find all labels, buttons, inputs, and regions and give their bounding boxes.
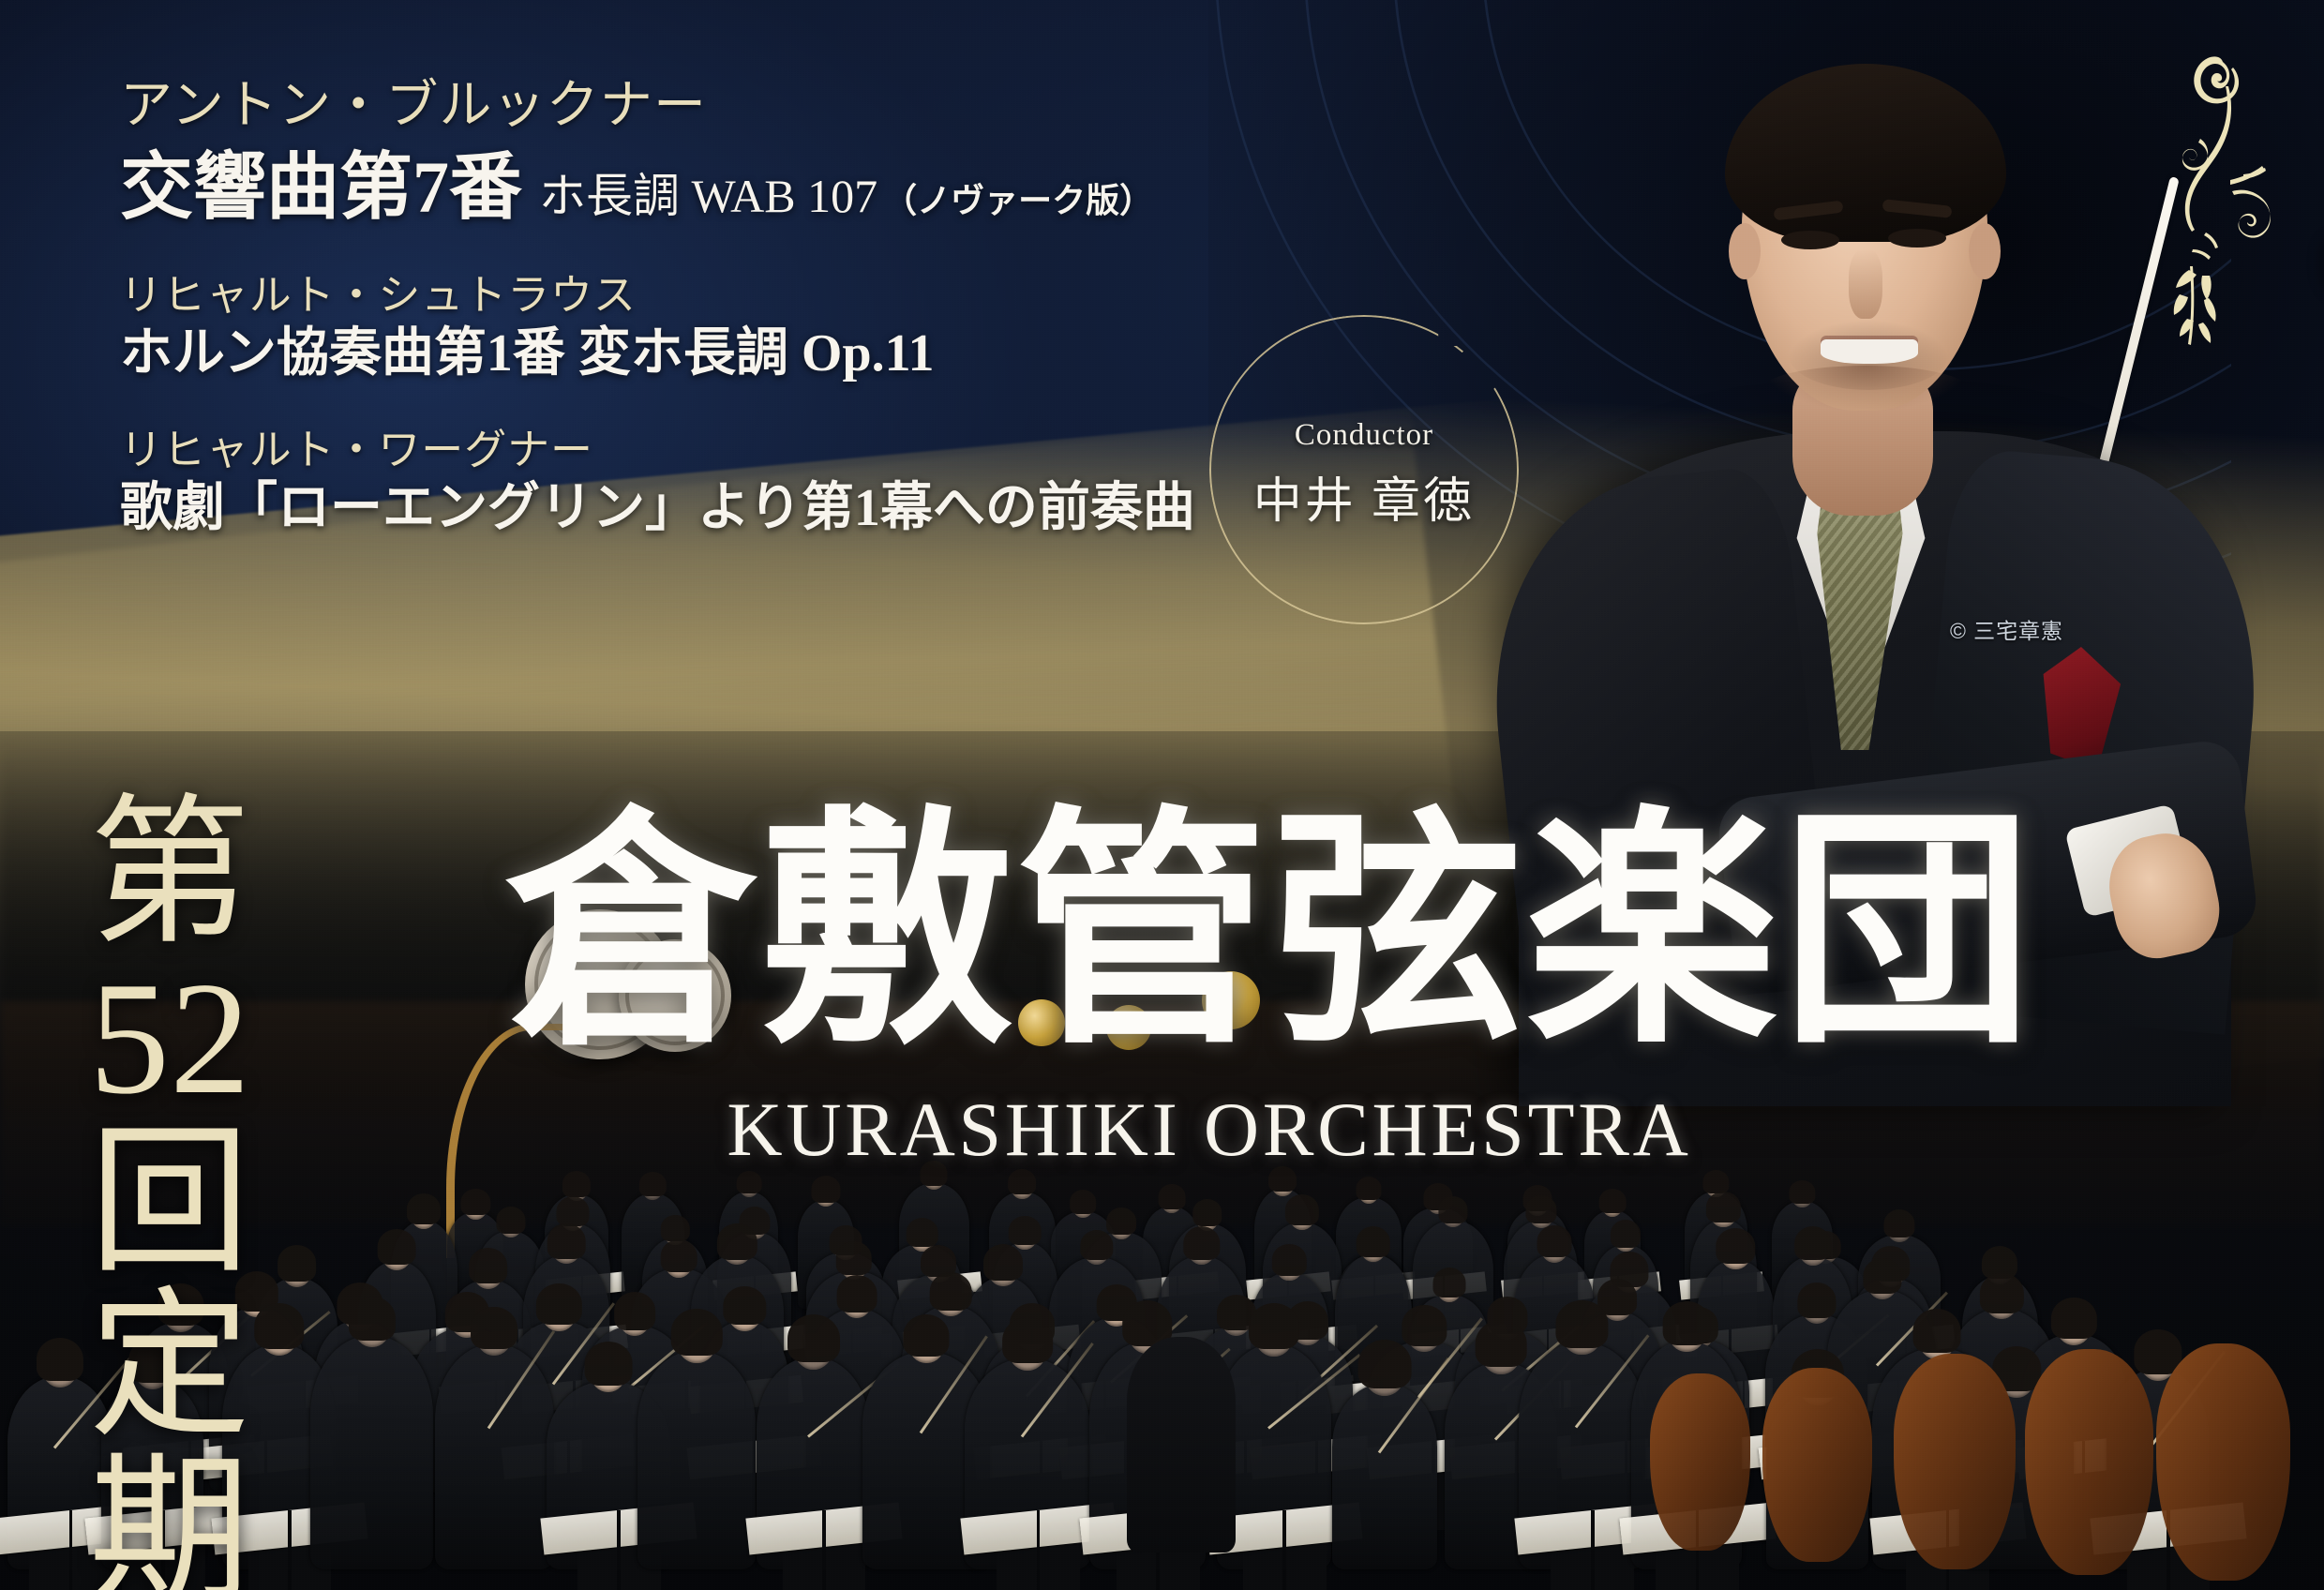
conductor-badge: Conductor 中井 章徳: [1209, 315, 1519, 624]
work-title-edition: （ノヴァーク版）: [883, 182, 1153, 219]
program-item-3: リヒャルト・ワーグナー 歌劇「ローエングリン」より第1幕への前奏曲: [120, 424, 1357, 541]
vertical-title-left-char: 定: [86, 1286, 253, 1450]
vertical-title-left-char: 第: [86, 793, 253, 957]
vertical-title-left-char: 52: [86, 957, 253, 1121]
vertical-title-left-char: 期: [86, 1451, 253, 1590]
program-item-1: アントン・ブルックナー 交響曲第7番ホ長調 WAB 107（ノヴァーク版）: [120, 73, 1357, 232]
conductor-label: Conductor: [1209, 418, 1519, 453]
work-title-main: 交響曲第7番: [120, 146, 522, 228]
floral-flourish-icon: [2133, 49, 2273, 367]
work-title-key: ホ長調 WAB 107: [539, 170, 877, 222]
photo-credit: © 三宅章憲: [1950, 613, 2063, 645]
spacer: [120, 392, 1357, 424]
composer-name: リヒャルト・ワーグナー: [120, 424, 1357, 476]
work-title: 歌劇「ローエングリン」より第1幕への前奏曲: [120, 476, 1357, 540]
concert-poster: アントン・ブルックナー 交響曲第7番ホ長調 WAB 107（ノヴァーク版） リヒ…: [0, 0, 2324, 1590]
composer-name: リヒャルト・シュトラウス: [120, 269, 1357, 322]
composer-name: アントン・ブルックナー: [120, 73, 1357, 139]
program-list: アントン・ブルックナー 交響曲第7番ホ長調 WAB 107（ノヴァーク版） リヒ…: [120, 73, 1357, 546]
vertical-title-left-char: 回: [86, 1122, 253, 1286]
work-title: 交響曲第7番ホ長調 WAB 107（ノヴァーク版）: [120, 142, 1357, 232]
work-title-main: ホルン協奏曲第1番 変ホ長調 Op.11: [120, 324, 935, 382]
spacer: [120, 237, 1357, 269]
work-title-main: 歌劇「ローエングリン」より第1幕への前奏曲: [120, 479, 1195, 537]
work-title: ホルン協奏曲第1番 変ホ長調 Op.11: [120, 322, 1357, 385]
program-item-2: リヒャルト・シュトラウス ホルン協奏曲第1番 変ホ長調 Op.11: [120, 269, 1357, 386]
vertical-title-left: 第 52 回 定 期: [86, 793, 253, 1590]
orchestra-name-japanese: 倉敷管弦楽団: [506, 808, 1912, 1059]
orchestra-name-english: KURASHIKI ORCHESTRA: [506, 1086, 1912, 1174]
conductor-name: 中井 章徳: [1209, 461, 1519, 532]
